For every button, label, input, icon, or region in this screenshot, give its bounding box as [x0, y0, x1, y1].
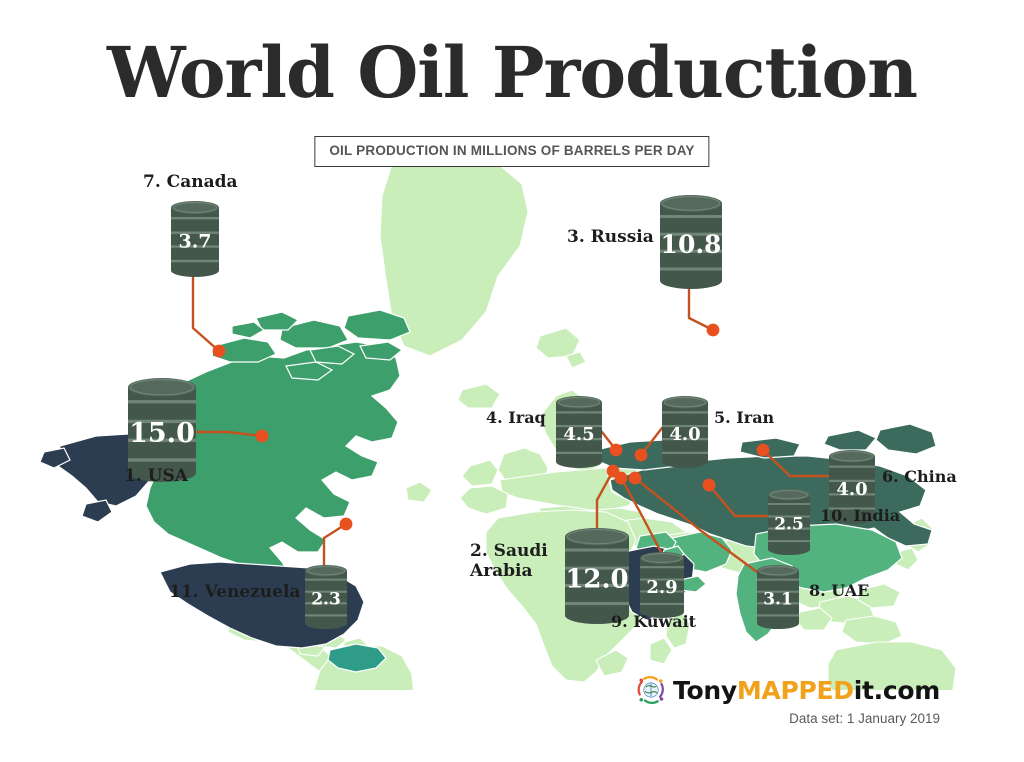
country-label-india: 10. India — [820, 507, 900, 526]
barrel-value-uae: 3.1 — [763, 589, 793, 609]
barrel-value-iraq: 4.5 — [563, 424, 594, 445]
brand-part-itcom: it.com — [854, 676, 940, 705]
page-title: World Oil Production — [0, 38, 1024, 108]
barrel-value-iran: 4.0 — [669, 424, 700, 445]
barrel-uae[interactable]: 3.1 — [757, 565, 799, 629]
infographic-root: World Oil Production OIL PRODUCTION IN M… — [0, 0, 1024, 762]
barrel-kuwait[interactable]: 2.9 — [640, 552, 684, 618]
barrel-value-usa: 15.0 — [129, 418, 195, 449]
country-label-usa: 1. USA — [124, 466, 188, 486]
country-label-russia: 3. Russia — [567, 227, 654, 247]
subtitle-box: OIL PRODUCTION IN MILLIONS OF BARRELS PE… — [314, 136, 709, 167]
barrel-canada[interactable]: 3.7 — [171, 201, 219, 277]
barrel-value-saudi-arabia: 12.0 — [565, 564, 628, 594]
globe-icon — [636, 675, 666, 705]
country-label-venezuela: 11. Venezuela — [169, 582, 300, 602]
barrel-value-russia: 10.8 — [661, 230, 722, 259]
barrel-value-china: 4.0 — [836, 479, 867, 500]
barrel-value-india: 2.5 — [774, 514, 804, 534]
brand-text: TonyMAPPEDit.com — [673, 676, 940, 705]
country-label-iraq: 4. Iraq — [486, 409, 546, 428]
barrel-value-kuwait: 2.9 — [646, 577, 677, 598]
brand-logo[interactable]: TonyMAPPEDit.com — [636, 675, 940, 705]
barrel-india[interactable]: 2.5 — [768, 489, 810, 555]
subtitle-text: OIL PRODUCTION IN MILLIONS OF BARRELS PE… — [329, 143, 694, 158]
country-label-china: 6. China — [882, 468, 957, 487]
brand-part-mapped: MAPPED — [737, 676, 854, 705]
country-label-iran: 5. Iran — [714, 409, 774, 428]
barrel-venezuela[interactable]: 2.3 — [305, 565, 347, 629]
country-label-canada: 7. Canada — [143, 172, 238, 192]
country-label-uae: 8. UAE — [809, 582, 869, 601]
footer: TonyMAPPEDit.com Data set: 1 January 201… — [636, 675, 940, 726]
dataset-note: Data set: 1 January 2019 — [636, 711, 940, 726]
barrel-iraq[interactable]: 4.5 — [556, 396, 602, 468]
barrel-russia[interactable]: 10.8 — [660, 195, 722, 289]
barrel-value-venezuela: 2.3 — [311, 589, 341, 609]
barrel-iran[interactable]: 4.0 — [662, 396, 708, 468]
country-label-kuwait: 9. Kuwait — [611, 613, 696, 632]
barrel-value-canada: 3.7 — [178, 230, 211, 252]
brand-part-tony: Tony — [673, 676, 737, 705]
country-label-saudi-arabia: 2. Saudi Arabia — [470, 541, 548, 581]
barrel-saudi-arabia[interactable]: 12.0 — [565, 528, 629, 624]
